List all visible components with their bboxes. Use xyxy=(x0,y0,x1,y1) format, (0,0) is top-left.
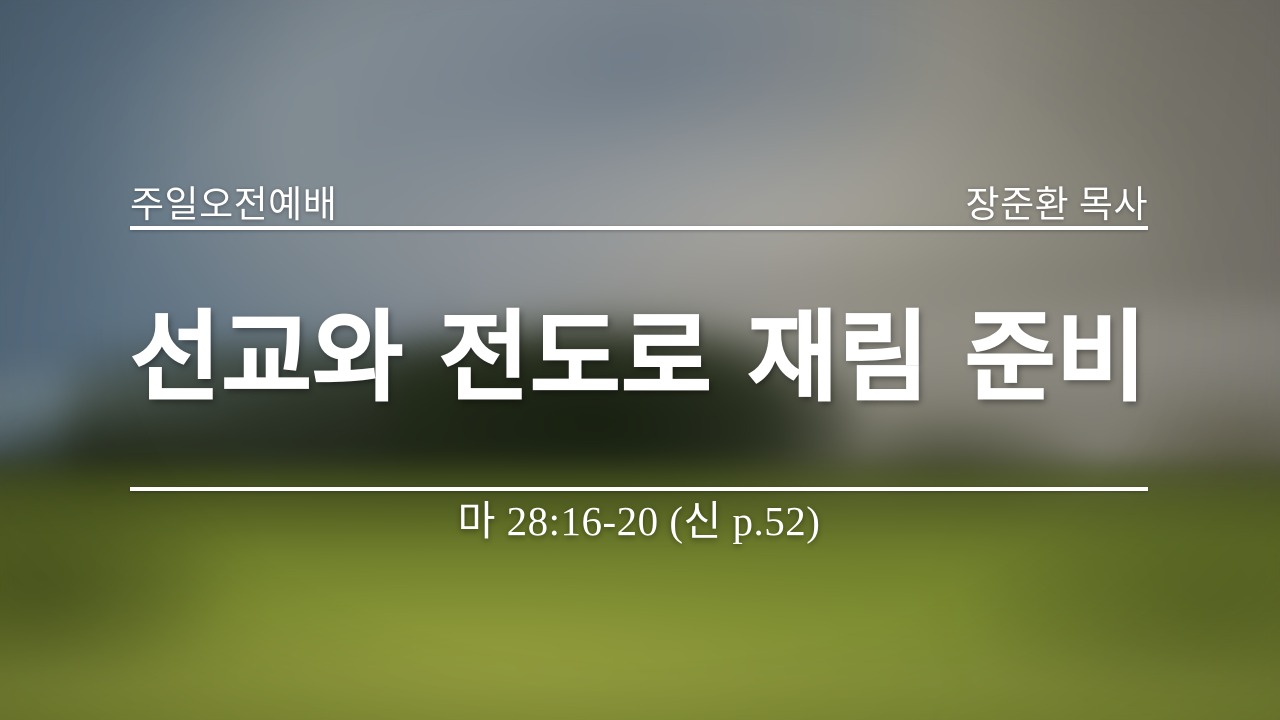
scripture-reference: 마 28:16-20 (신 p.52) xyxy=(130,498,1148,545)
sermon-title-slide: 주일오전예배 장준환 목사 선교와 전도로 재림 준비 마 28:16-20 (… xyxy=(0,0,1280,720)
slide-content: 주일오전예배 장준환 목사 선교와 전도로 재림 준비 마 28:16-20 (… xyxy=(0,0,1280,720)
sermon-title: 선교와 전도로 재림 준비 xyxy=(130,296,1148,420)
divider-rule-bottom xyxy=(130,487,1148,491)
divider-rule-top xyxy=(130,226,1148,230)
service-name-label: 주일오전예배 xyxy=(130,187,337,224)
speaker-name-label: 장준환 목사 xyxy=(966,187,1148,224)
slide-header: 주일오전예배 장준환 목사 xyxy=(130,172,1148,224)
